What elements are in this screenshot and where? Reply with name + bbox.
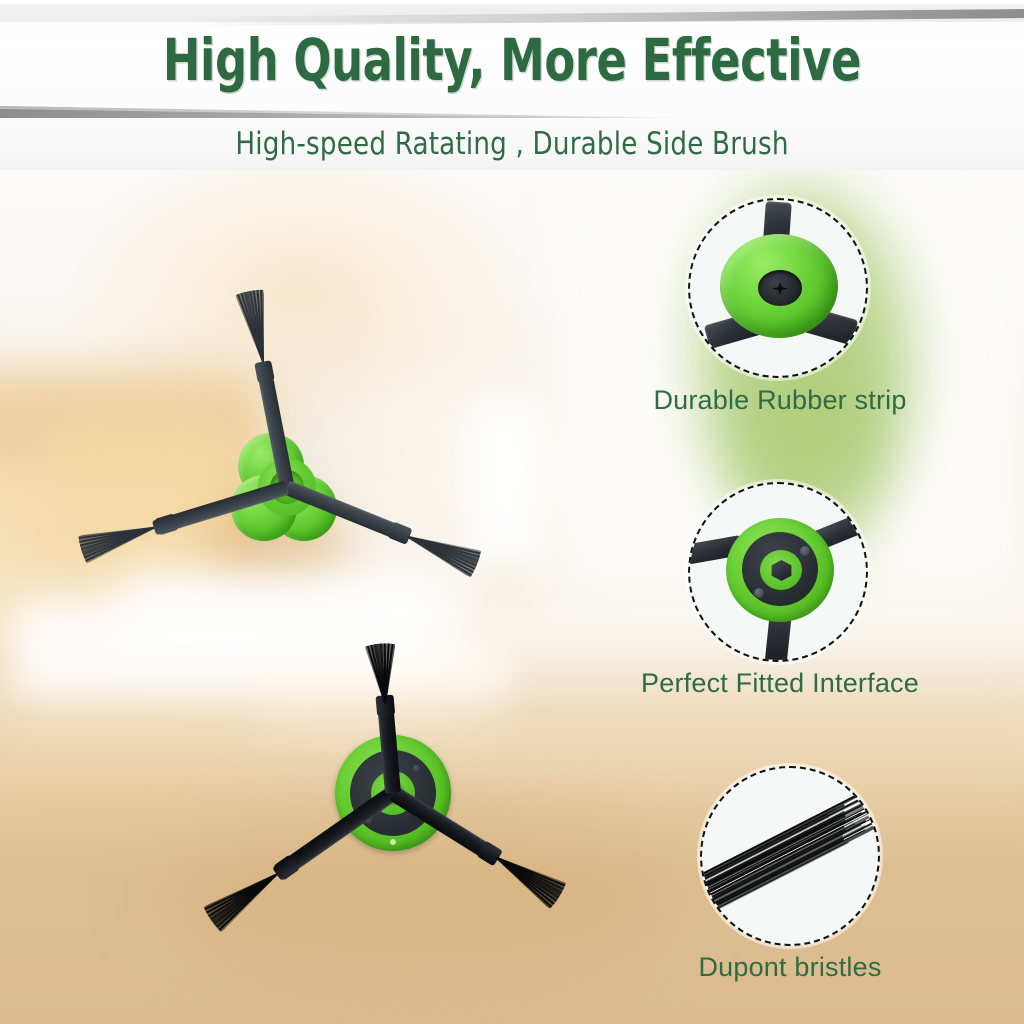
product-marketing-image: High Quality, More Effective High-speed … bbox=[0, 0, 1024, 1024]
product-photo: Durable Rubber strip Perfect Fitted Inte… bbox=[0, 170, 1024, 1024]
bristle-filament bbox=[262, 289, 264, 361]
hub-boss bbox=[413, 765, 420, 772]
callout-perfect-fitted-interface bbox=[688, 482, 868, 662]
callout-durable-rubber-strip bbox=[688, 198, 868, 378]
callout-2-detail-image bbox=[690, 484, 866, 660]
callout-label-perfect-fitted-interface: Perfect Fitted Interface bbox=[600, 668, 960, 699]
callout-3-detail-image bbox=[702, 768, 878, 944]
bristle-tuft bbox=[365, 642, 401, 704]
interface-boss bbox=[800, 546, 810, 556]
background-lamp-base bbox=[478, 560, 534, 620]
hub-indicator-pip bbox=[390, 839, 396, 845]
callout-label-durable-rubber-strip: Durable Rubber strip bbox=[620, 385, 940, 416]
image-top-edge bbox=[0, 0, 1024, 4]
bristle-bundle bbox=[700, 779, 880, 915]
callout-label-dupont-bristles: Dupont bristles bbox=[630, 952, 950, 983]
page-subtitle: High-speed Ratating , Durable Side Brush bbox=[31, 126, 994, 162]
callout-1-detail-image bbox=[690, 200, 866, 376]
background-floor-edge bbox=[0, 700, 1024, 760]
side-brush-upper bbox=[235, 435, 339, 539]
header-banner: High Quality, More Effective bbox=[0, 0, 1024, 118]
callout-dupont-bristles bbox=[700, 766, 880, 946]
bristle-tuft bbox=[235, 288, 277, 364]
interface-boss bbox=[754, 588, 764, 598]
page-title: High Quality, More Effective bbox=[72, 26, 953, 94]
brush-arm-joint bbox=[254, 360, 275, 383]
side-brush-lower bbox=[335, 735, 451, 851]
